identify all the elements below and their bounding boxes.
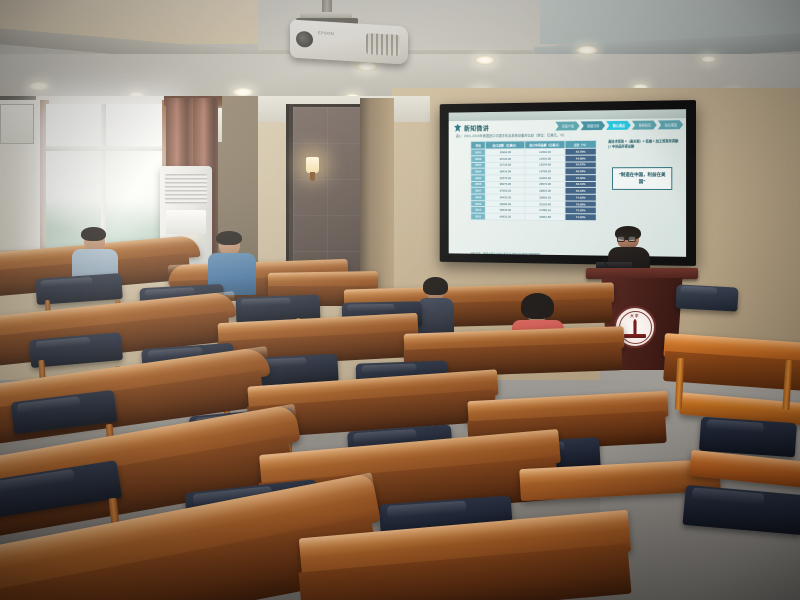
slide-data-table: 年份 出口总额（亿美元） 进口中间品额（亿美元） 占比（%） 200119464… xyxy=(470,140,596,221)
slide-top-band xyxy=(449,109,686,121)
presenter-glasses-left xyxy=(617,236,625,242)
wall-board xyxy=(0,104,34,144)
table-row: 201140932.2030061.5074.02% xyxy=(471,213,596,220)
presentation-slide: 新知微讲 背景介绍 数据分析 核心观点 案例研究 结论展望 表1：2001-20… xyxy=(449,109,686,257)
attendee-1-hair xyxy=(81,227,106,241)
attendee-3-torso xyxy=(418,298,454,336)
table-header-0: 年份 xyxy=(471,141,486,149)
slide-footnote: 资料来源：根据中国海关统计年鉴及美国商务部相关数据整理。 xyxy=(470,252,542,257)
table-cell-r10-c2: 30061.50 xyxy=(525,213,565,220)
chair-right-1 xyxy=(675,284,738,311)
slide-nav-tab-2[interactable]: 核心观点 xyxy=(606,121,631,130)
wall-sconce-bracket xyxy=(310,172,315,181)
projector: EPSON xyxy=(290,19,408,64)
screen-display-area: 新知微讲 背景介绍 数据分析 核心观点 案例研究 结论展望 表1：2001-20… xyxy=(449,109,686,257)
projector-lens-icon xyxy=(296,31,313,48)
slide-sidenote: 高技术贸易 =（高关税）+ 低端 + 加工贸易所得额 ) / 中间品所得总额 xyxy=(608,139,680,149)
projector-brand-label: EPSON xyxy=(318,30,334,36)
downlight-1 xyxy=(28,82,50,91)
downlight-11 xyxy=(700,56,717,63)
downlight-4 xyxy=(356,62,378,71)
downlight-8 xyxy=(474,56,496,65)
table-cell-r10-c0: 2011 xyxy=(471,213,486,220)
table-header-3: 占比（%） xyxy=(565,140,596,148)
wall-sconce-light xyxy=(306,157,319,173)
presenter-glasses-right xyxy=(628,236,636,242)
projector-vent xyxy=(366,33,400,56)
slide-nav-tab-1[interactable]: 数据分析 xyxy=(581,121,606,130)
ac-control-panel xyxy=(166,210,206,234)
slide-nav-tab-0[interactable]: 背景介绍 xyxy=(555,121,579,130)
lectern-top-surface xyxy=(586,268,698,279)
table-cell-r10-c1: 40932.20 xyxy=(486,213,525,220)
star-logo-icon xyxy=(454,123,461,132)
emblem-base-icon xyxy=(624,334,646,338)
emblem-text: 大学 xyxy=(630,313,640,318)
door-panel-grid xyxy=(293,107,361,281)
slide-header: 新知微讲 xyxy=(454,123,489,133)
conference-room-photo: EPSON GREE 新知微讲 xyxy=(0,0,800,600)
table-body: 200119464.0012432.1063.78%200220704.0013… xyxy=(471,148,596,220)
attendee-4-hair xyxy=(521,293,554,319)
attendee-mid-left xyxy=(418,280,454,336)
window-mullion-horizontal xyxy=(46,146,166,151)
ac-vent-grille xyxy=(165,174,207,204)
slide-quote-box: "制造在中国，利益在美国" xyxy=(612,167,672,190)
table-cell-r10-c3: 74.02% xyxy=(565,214,596,221)
downlight-7 xyxy=(576,46,598,55)
attendee-2-hair xyxy=(216,231,242,245)
attendee-3-hair xyxy=(423,277,448,295)
slide-nav-tabs: 背景介绍 数据分析 核心观点 案例研究 结论展望 xyxy=(555,120,683,130)
slide-nav-tab-4[interactable]: 结论展望 xyxy=(658,120,683,129)
slide-subtitle: 表1：2001-2015年美国进口中国手机及其他设备的比较（单位：亿美元、%） xyxy=(456,132,566,138)
slide-nav-tab-3[interactable]: 案例研究 xyxy=(632,120,657,129)
projection-screen: 新知微讲 背景介绍 数据分析 核心观点 案例研究 结论展望 表1：2001-20… xyxy=(440,100,696,266)
slide-title: 新知微讲 xyxy=(464,123,489,133)
panelled-door xyxy=(286,104,364,284)
